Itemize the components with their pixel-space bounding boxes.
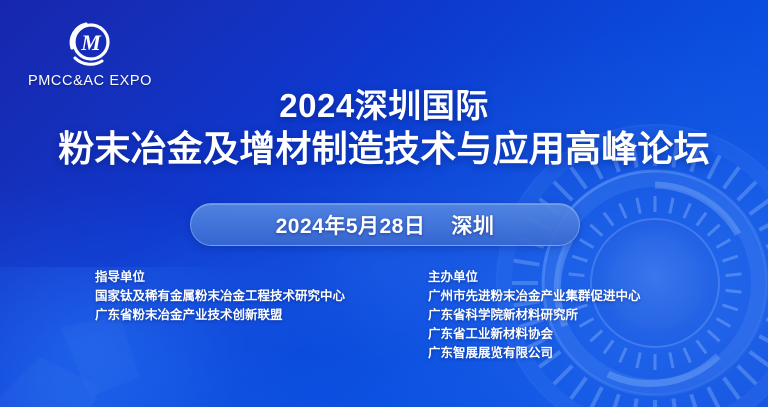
svg-text:M: M [80, 30, 102, 55]
host-org-item: 广东智展展览有限公司 [428, 344, 641, 363]
brand-logo[interactable]: M PMCC&AC EXPO [14, 18, 166, 89]
event-date-text: 2024年5月28日深圳 [276, 210, 495, 240]
brand-name: PMCC&AC EXPO [14, 73, 166, 89]
host-heading: 主办单位 [428, 268, 641, 287]
event-date-bar: 2024年5月28日深圳 [190, 203, 580, 246]
guidance-org-column: 指导单位 国家钛及稀有金属粉末冶金工程技术研究中心 广东省粉末冶金产业技术创新联… [95, 268, 345, 325]
title-line-2: 粉末冶金及增材制造技术与应用高峰论坛 [0, 127, 768, 171]
host-org-column: 主办单位 广州市先进粉末冶金产业集群促进中心 广东省科学院新材料研究所 广东省工… [428, 268, 641, 363]
m-circle-logo-icon: M [62, 18, 118, 68]
guidance-org-item: 广东省粉末冶金产业技术创新联盟 [95, 306, 345, 325]
event-date: 2024年5月28日 [276, 215, 426, 238]
event-city: 深圳 [451, 215, 494, 238]
title-line-1: 2024深圳国际 [0, 88, 768, 125]
guidance-org-item: 国家钛及稀有金属粉末冶金工程技术研究中心 [95, 287, 345, 306]
host-org-item: 广州市先进粉末冶金产业集群促进中心 [428, 287, 641, 306]
page-title: 2024深圳国际 粉末冶金及增材制造技术与应用高峰论坛 [0, 88, 768, 171]
host-org-item: 广东省工业新材料协会 [428, 325, 641, 344]
guidance-heading: 指导单位 [95, 268, 345, 287]
event-banner: M PMCC&AC EXPO 2024深圳国际 粉末冶金及增材制造技术与应用高峰… [0, 0, 768, 407]
host-org-item: 广东省科学院新材料研究所 [428, 306, 641, 325]
